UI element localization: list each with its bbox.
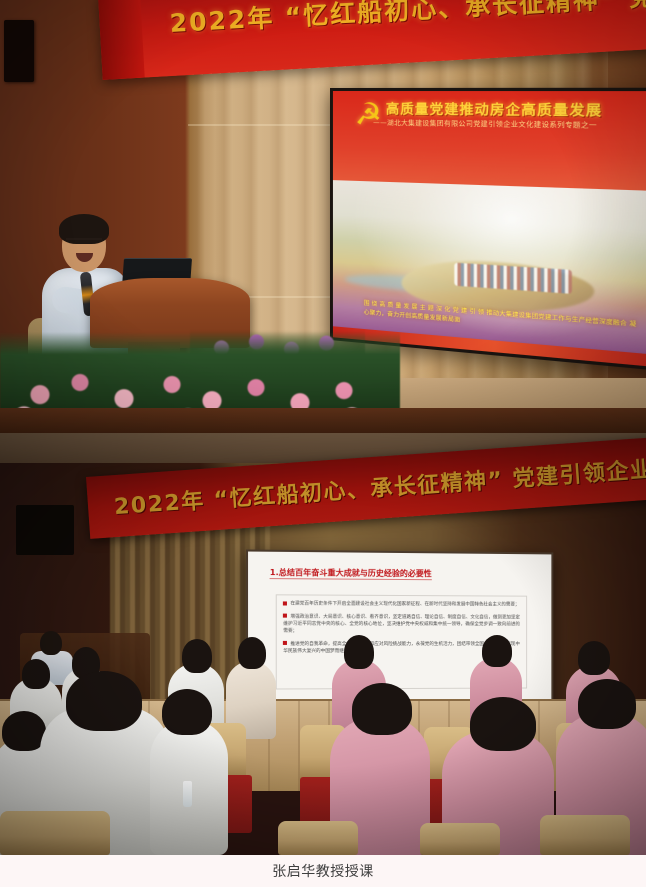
photo-caption-text: 张启华教授授课 (272, 861, 374, 881)
audience-head (162, 689, 212, 735)
bullet-icon (283, 614, 287, 618)
audience-head (22, 659, 50, 689)
slide-paragraph-text: 增强政治意识、大局意识、核心意识、看齐意识，坚定道路自信、理论自信、制度自信、文… (283, 614, 520, 634)
bullet-icon (283, 641, 287, 645)
speaker-box-icon (4, 20, 34, 82)
audience-head (482, 635, 512, 667)
chair-back (420, 823, 500, 855)
audience-head (238, 637, 266, 669)
audience-head (470, 697, 536, 751)
water-bottle-icon (183, 781, 192, 807)
slide-paragraph: 在建党百年历史条件下开启全面建设社会主义现代化国家新征程、在新时代坚持和发展中国… (283, 601, 520, 609)
audience-head (344, 635, 374, 669)
photo-professor-lecturing: 2022年 “忆红船初心、承长征精神” 党建引领企业 ☭ 高质量党建推动房企高质… (0, 0, 646, 433)
bullet-icon (283, 601, 287, 605)
projection-screen-top: ☭ 高质量党建推动房企高质量发展 ——湖北大集建设集团有限公司党建引领企业文化建… (330, 88, 646, 373)
audience-head (352, 683, 412, 735)
glasses-icon (66, 238, 102, 247)
photo-caption-bar: 张启华教授授课 (0, 855, 646, 887)
banner-fold (98, 0, 145, 80)
hammer-sickle-icon: ☭ (348, 97, 388, 134)
audience-head (578, 679, 636, 729)
event-banner-top-text: 2022年 “忆红船初心、承长征精神” 党建引领企业 (169, 0, 646, 40)
wall-monitor-icon (16, 505, 74, 555)
chair-back (540, 815, 630, 855)
chair-back (0, 811, 110, 855)
audience-seating (0, 683, 646, 855)
speaker-head-rear (40, 631, 62, 655)
stage-front-edge (0, 408, 646, 433)
slide-title-bottom: 1.总结百年奋斗重大成就与历史经验的必要性 (270, 567, 432, 580)
article-page: 2022年 “忆红船初心、承长征精神” 党建引领企业 ☭ 高质量党建推动房企高质… (0, 0, 646, 887)
audience-head (578, 641, 610, 675)
chair-back (278, 821, 358, 855)
slide-paragraph: 增强政治意识、大局意识、核心意识、看齐意识，坚定道路自信、理论自信、制度自信、文… (283, 613, 520, 636)
slide-paragraph-text: 在建党百年历史条件下开启全面建设社会主义现代化国家新征程、在新时代坚持和发展中国… (290, 602, 519, 608)
audience-head (182, 639, 212, 673)
audience-head (66, 671, 142, 731)
photo-audience-view: 2022年 “忆红船初心、承长征精神” 党建引领企业文化发展学习 1.总结百年奋… (0, 433, 646, 855)
slide-subtitle-top: ——湖北大集建设集团有限公司党建引领企业文化建设系列专题之一 (373, 117, 597, 130)
